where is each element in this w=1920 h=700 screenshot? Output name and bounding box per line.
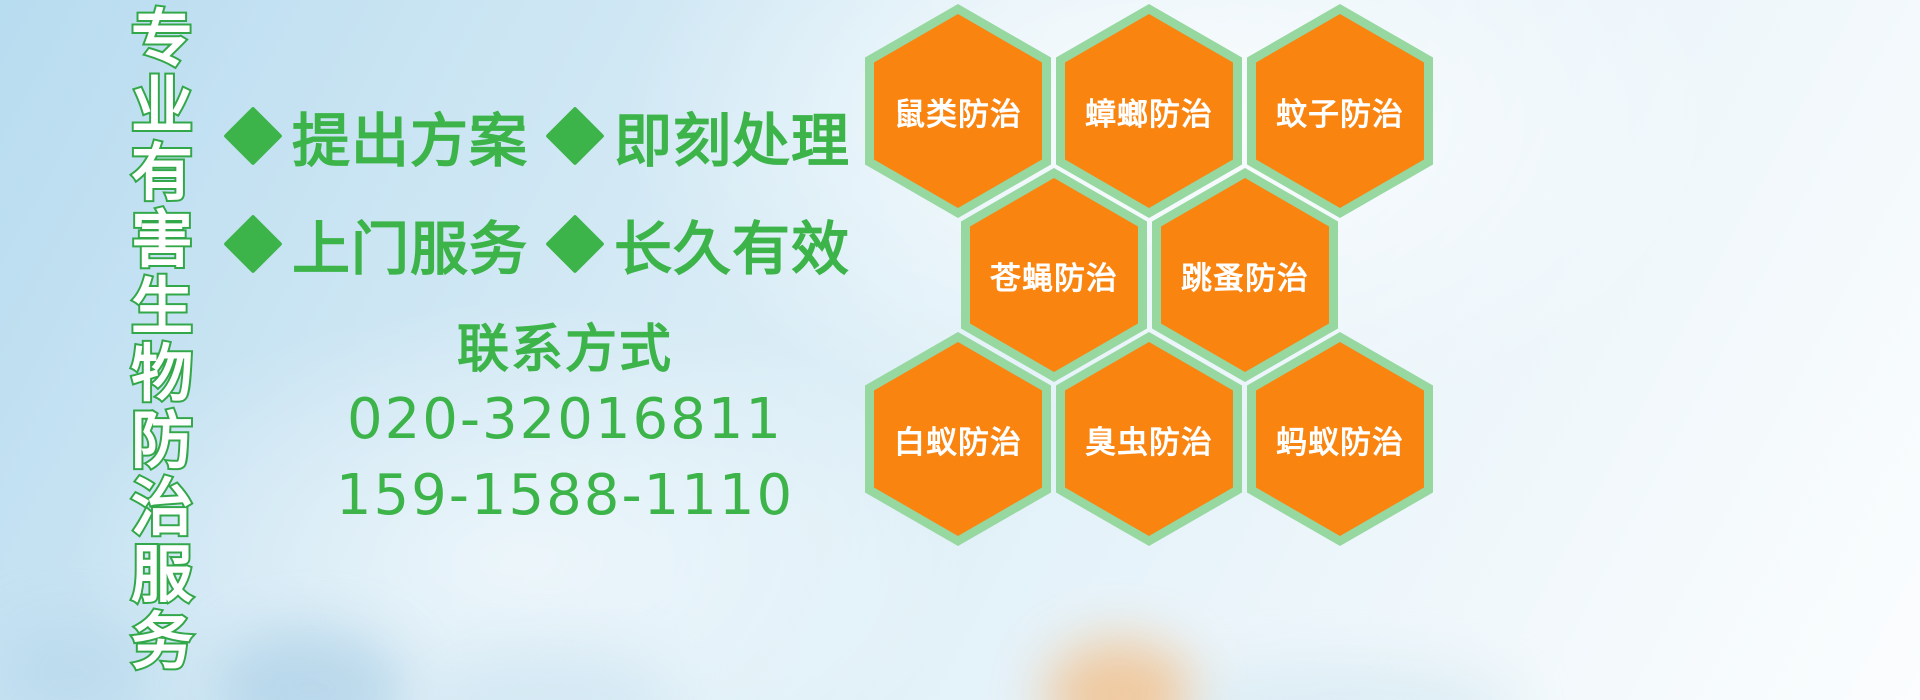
diamond-icon (223, 214, 282, 273)
diamond-icon (545, 214, 604, 273)
service-label: 跳蚤防治 (1181, 253, 1309, 298)
feature-row: 上门服务 长久有效 (232, 190, 872, 298)
background-blur-shape (0, 618, 150, 700)
vertical-title-char: 治 (131, 477, 193, 539)
feature-label: 上门服务 (292, 202, 528, 286)
feature-list: 提出方案 即刻处理 上门服务 长久有效 (232, 82, 872, 298)
vertical-title-char: 专 (131, 8, 193, 70)
contact-phone-landline[interactable]: 020-32016811 (300, 382, 830, 458)
vertical-title-char: 务 (131, 611, 193, 673)
service-label: 蟑螂防治 (1085, 89, 1213, 134)
background-blur-shape (1190, 662, 1520, 700)
background-blur-shape (1045, 640, 1195, 700)
background-blur-shape (430, 648, 670, 700)
feature-item: 即刻处理 (554, 94, 850, 178)
feature-item: 提出方案 (232, 94, 528, 178)
feature-label: 提出方案 (292, 94, 528, 178)
pest-control-banner: 专 业 有 害 生 物 防 治 服 务 提出方案 即刻处理 上门服务 (0, 0, 1920, 700)
contact-block: 联系方式 020-32016811 159-1588-1110 (300, 318, 830, 534)
vertical-title-char: 害 (131, 209, 193, 271)
service-hexagon-cluster: 鼠类防治 蟑螂防治 蚊子防治 苍蝇防治 跳蚤防治 白蚁防治 臭虫防治 蚂蚁防治 (855, 0, 1465, 560)
contact-phone-mobile[interactable]: 159-1588-1110 (300, 458, 830, 534)
service-label: 白蚁防治 (894, 417, 1022, 462)
service-label: 蚂蚁防治 (1276, 417, 1404, 462)
vertical-title-char: 业 (131, 75, 193, 137)
feature-item: 长久有效 (554, 202, 850, 286)
service-label: 蚊子防治 (1276, 89, 1404, 134)
vertical-title-char: 物 (131, 343, 193, 405)
feature-label: 即刻处理 (614, 94, 850, 178)
vertical-title-char: 防 (131, 410, 193, 472)
service-label: 苍蝇防治 (990, 253, 1118, 298)
vertical-title-char: 生 (131, 276, 193, 338)
vertical-title-char: 服 (131, 544, 193, 606)
contact-title: 联系方式 (300, 318, 830, 382)
background-blur-shape (215, 628, 405, 700)
feature-item: 上门服务 (232, 202, 528, 286)
vertical-title-char: 有 (131, 142, 193, 204)
diamond-icon (545, 106, 604, 165)
vertical-title: 专 业 有 害 生 物 防 治 服 务 (108, 8, 216, 568)
diamond-icon (223, 106, 282, 165)
feature-row: 提出方案 即刻处理 (232, 82, 872, 190)
feature-label: 长久有效 (614, 202, 850, 286)
service-label: 臭虫防治 (1085, 417, 1213, 462)
service-label: 鼠类防治 (894, 89, 1022, 134)
